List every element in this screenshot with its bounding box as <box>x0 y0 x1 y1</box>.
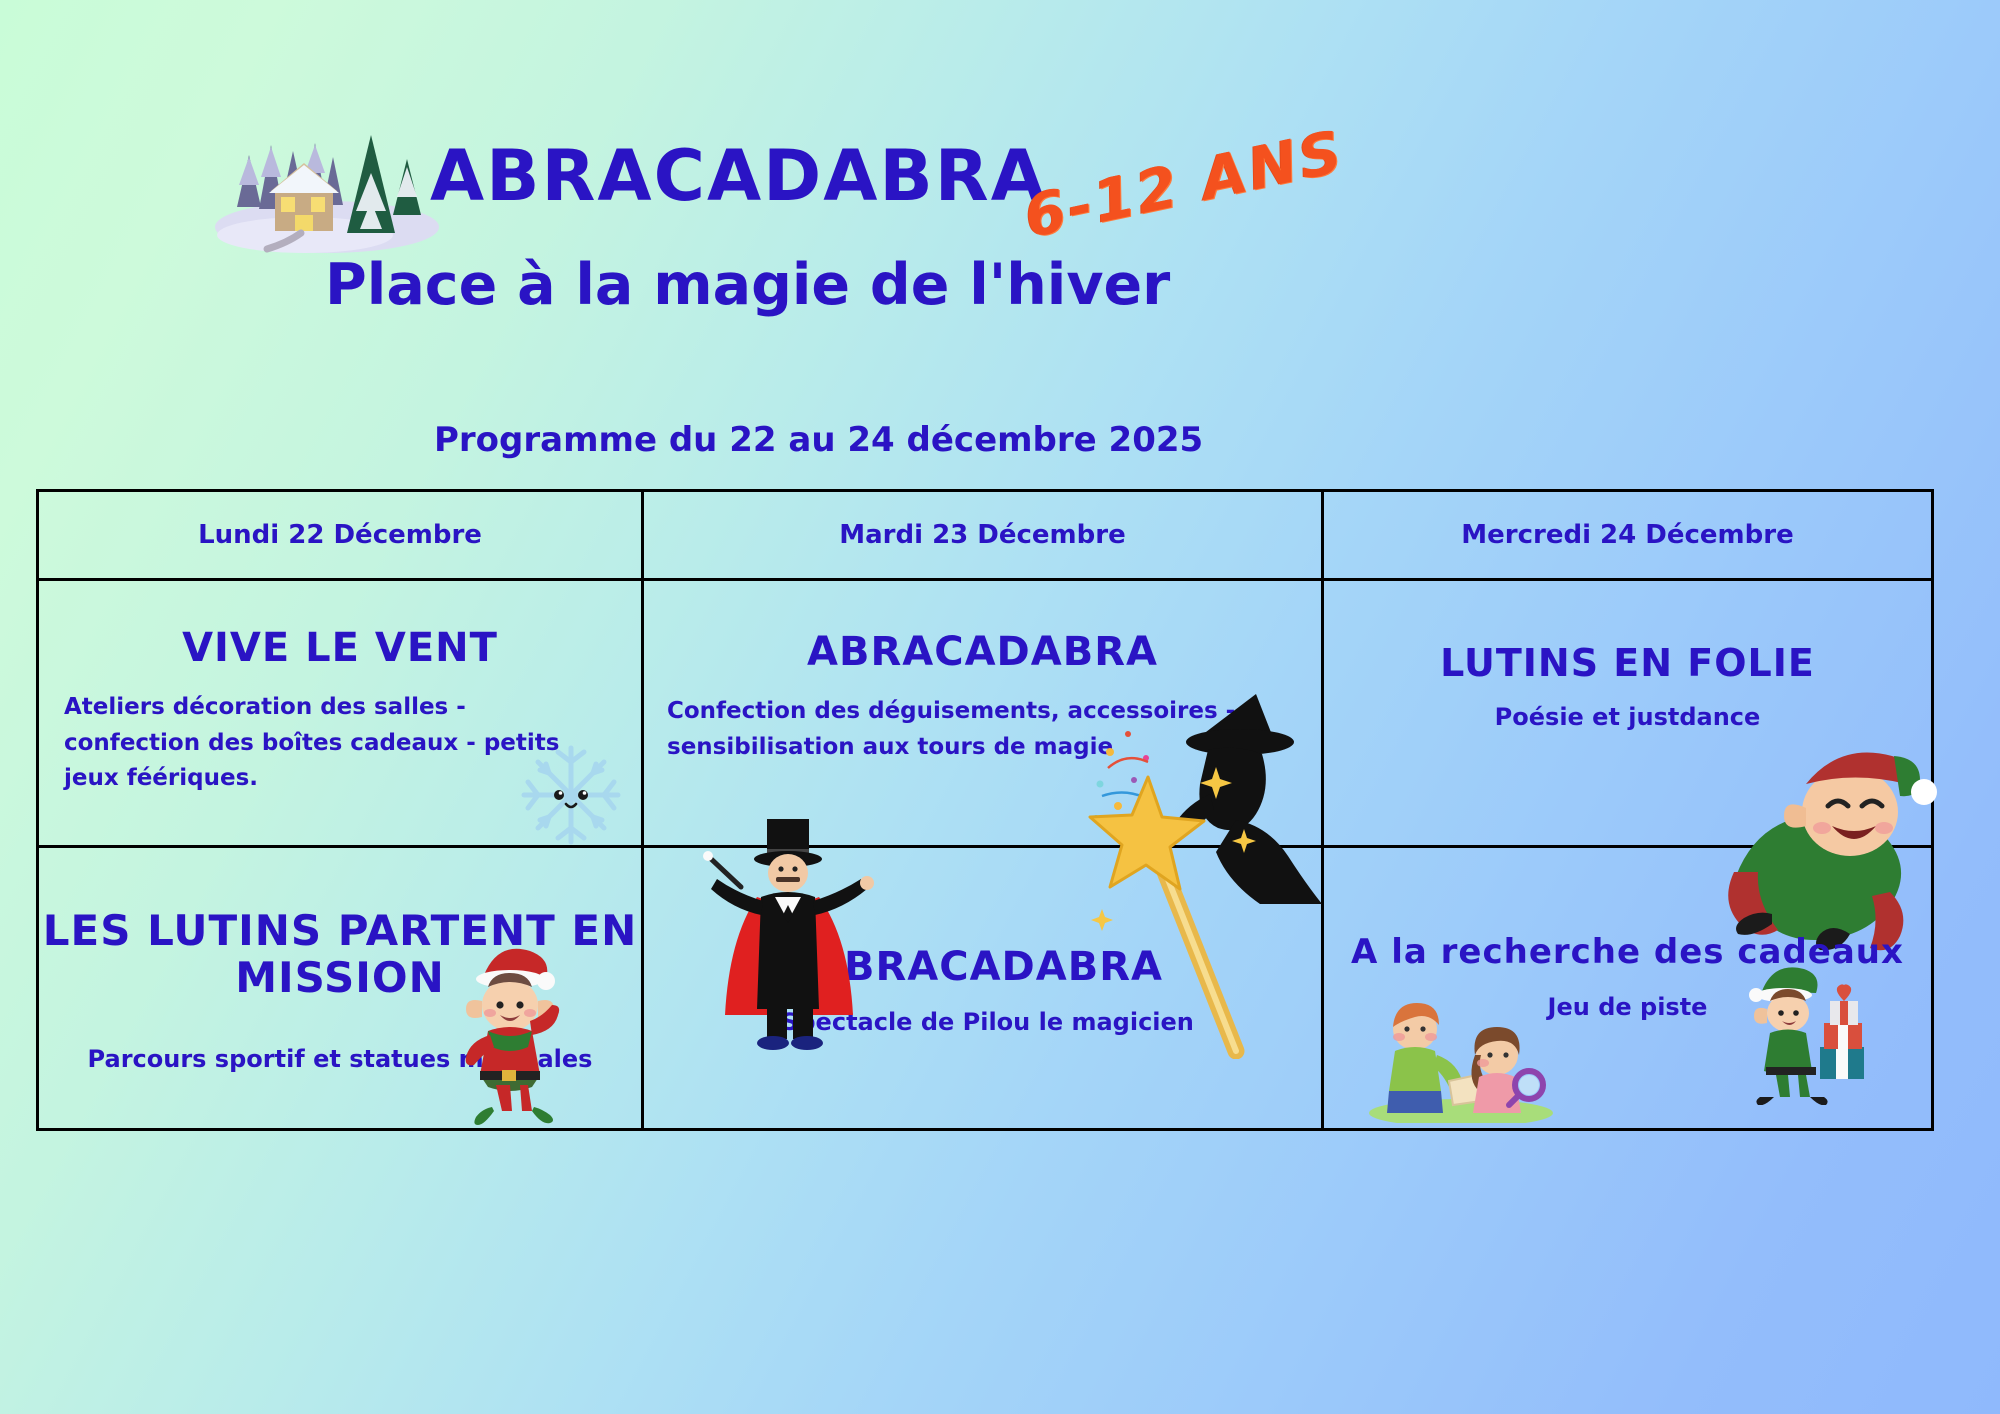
poster-header: ABRACADABRA 6-12 ANS Place à la magie de… <box>0 0 2000 470</box>
activity-title: LUTINS EN FOLIE <box>1325 642 1930 685</box>
activity-cell-lundi-afternoon: LES LUTINS PARTENT EN MISSION Parcours s… <box>38 847 643 1130</box>
program-table: Lundi 22 Décembre Mardi 23 Décembre Merc… <box>36 489 1934 1131</box>
age-badge: 6-12 ANS <box>1018 117 1350 251</box>
activity-title: A la recherche des cadeaux <box>1325 933 1930 971</box>
day-header-label: Mercredi 24 Décembre <box>1325 520 1930 550</box>
table-row: LES LUTINS PARTENT EN MISSION Parcours s… <box>38 847 1933 1130</box>
activity-cell-mardi-afternoon: ABRACADABRA Spectacle de Pilou le magici… <box>643 847 1323 1130</box>
activity-cell-lundi-morning: VIVE LE VENT Ateliers décoration des sal… <box>38 580 643 847</box>
activity-description: Poésie et justdance <box>1325 699 1930 736</box>
activity-title: LES LUTINS PARTENT EN MISSION <box>40 907 640 1001</box>
activity-title: ABRACADABRA <box>775 945 1200 990</box>
activity-title: VIVE LE VENT <box>40 626 640 671</box>
activity-cell-mardi-morning: ABRACADABRA Confection des déguisements,… <box>643 580 1323 847</box>
activity-cell-mercredi-morning: LUTINS EN FOLIE Poésie et justdance <box>1323 580 1933 847</box>
table-header-row: Lundi 22 Décembre Mardi 23 Décembre Merc… <box>38 491 1933 580</box>
activity-description: Parcours sportif et statues musicales <box>40 1041 640 1078</box>
elf-with-gifts-icon <box>1744 955 1874 1105</box>
page-title: ABRACADABRA <box>430 135 1047 217</box>
page-subtitle: Place à la magie de l'hiver <box>325 252 1170 318</box>
day-header-cell: Lundi 22 Décembre <box>38 491 643 580</box>
winter-house-icon <box>215 115 440 255</box>
day-header-cell: Mardi 23 Décembre <box>643 491 1323 580</box>
table-row: VIVE LE VENT Ateliers décoration des sal… <box>38 580 1933 847</box>
activity-description: Confection des déguisements, accessoires… <box>667 694 1287 765</box>
program-dates: Programme du 22 au 24 décembre 2025 <box>434 420 1203 460</box>
activity-description: Spectacle de Pilou le magicien <box>775 1004 1200 1041</box>
day-header-label: Lundi 22 Décembre <box>40 520 640 550</box>
activity-description: Ateliers décoration des salles - confect… <box>64 690 594 797</box>
activity-description: Jeu de piste <box>1325 989 1930 1026</box>
activity-title: ABRACADABRA <box>645 630 1320 675</box>
day-header-cell: Mercredi 24 Décembre <box>1323 491 1933 580</box>
activity-cell-mercredi-afternoon: A la recherche des cadeaux Jeu de piste <box>1323 847 1933 1130</box>
day-header-label: Mardi 23 Décembre <box>645 520 1320 550</box>
